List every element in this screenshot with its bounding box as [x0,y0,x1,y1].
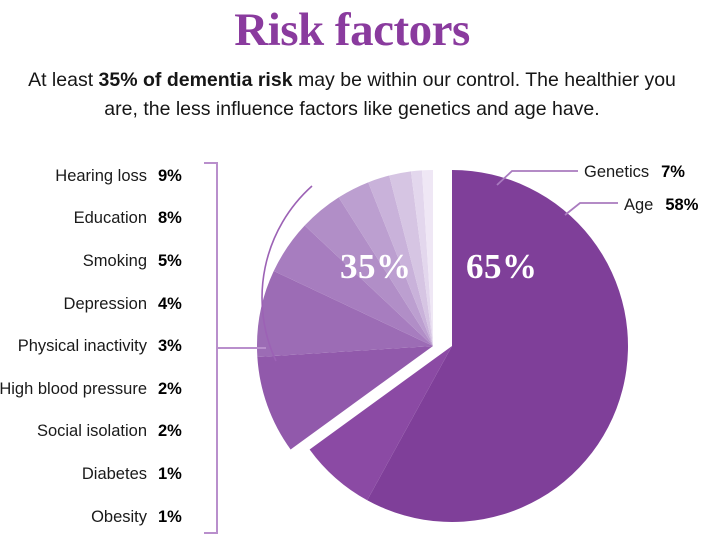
factor-value: 5% [158,252,188,271]
pie-slice-group [257,170,628,522]
right-label-age-name: Age [624,196,653,215]
leader-line-age [565,203,618,215]
factor-label: High blood pressure [0,380,147,399]
right-label-genetics-value: 7% [661,163,685,182]
right-label-genetics-name: Genetics [584,163,649,182]
factor-row: Hearing loss9% [0,155,196,198]
factor-label: Physical inactivity [18,337,147,356]
factor-label: Depression [64,295,147,314]
pie-caption-modifiable: 35% [340,247,412,287]
factor-value: 2% [158,422,188,441]
factor-label: Smoking [83,252,147,271]
factor-label: Social isolation [37,422,147,441]
factor-row: Social isolation2% [0,411,196,454]
factor-row: Diabetes1% [0,453,196,496]
factor-row: Depression4% [0,283,196,326]
factor-value: 1% [158,465,188,484]
right-label-genetics: Genetics 7% [584,163,685,182]
factor-list: Hearing loss9%Education8%Smoking5%Depres… [0,155,196,538]
modifiable-bracket [204,163,266,533]
factor-row: Obesity1% [0,496,196,539]
factor-label: Obesity [91,508,147,527]
bracket-spine [204,163,217,533]
factor-value: 2% [158,380,188,399]
factor-label: Education [74,209,147,228]
pie-caption-non-modifiable: 65% [466,247,538,287]
factor-row: Education8% [0,198,196,241]
factor-value: 3% [158,337,188,356]
factor-value: 8% [158,209,188,228]
factor-row: High blood pressure2% [0,368,196,411]
factor-value: 9% [158,167,188,186]
factor-row: Physical inactivity3% [0,325,196,368]
factor-value: 4% [158,295,188,314]
factor-row: Smoking5% [0,240,196,283]
factor-value: 1% [158,508,188,527]
right-label-age: Age 58% [624,196,698,215]
factor-label: Hearing loss [55,167,147,186]
right-label-age-value: 58% [665,196,698,215]
factor-label: Diabetes [82,465,147,484]
